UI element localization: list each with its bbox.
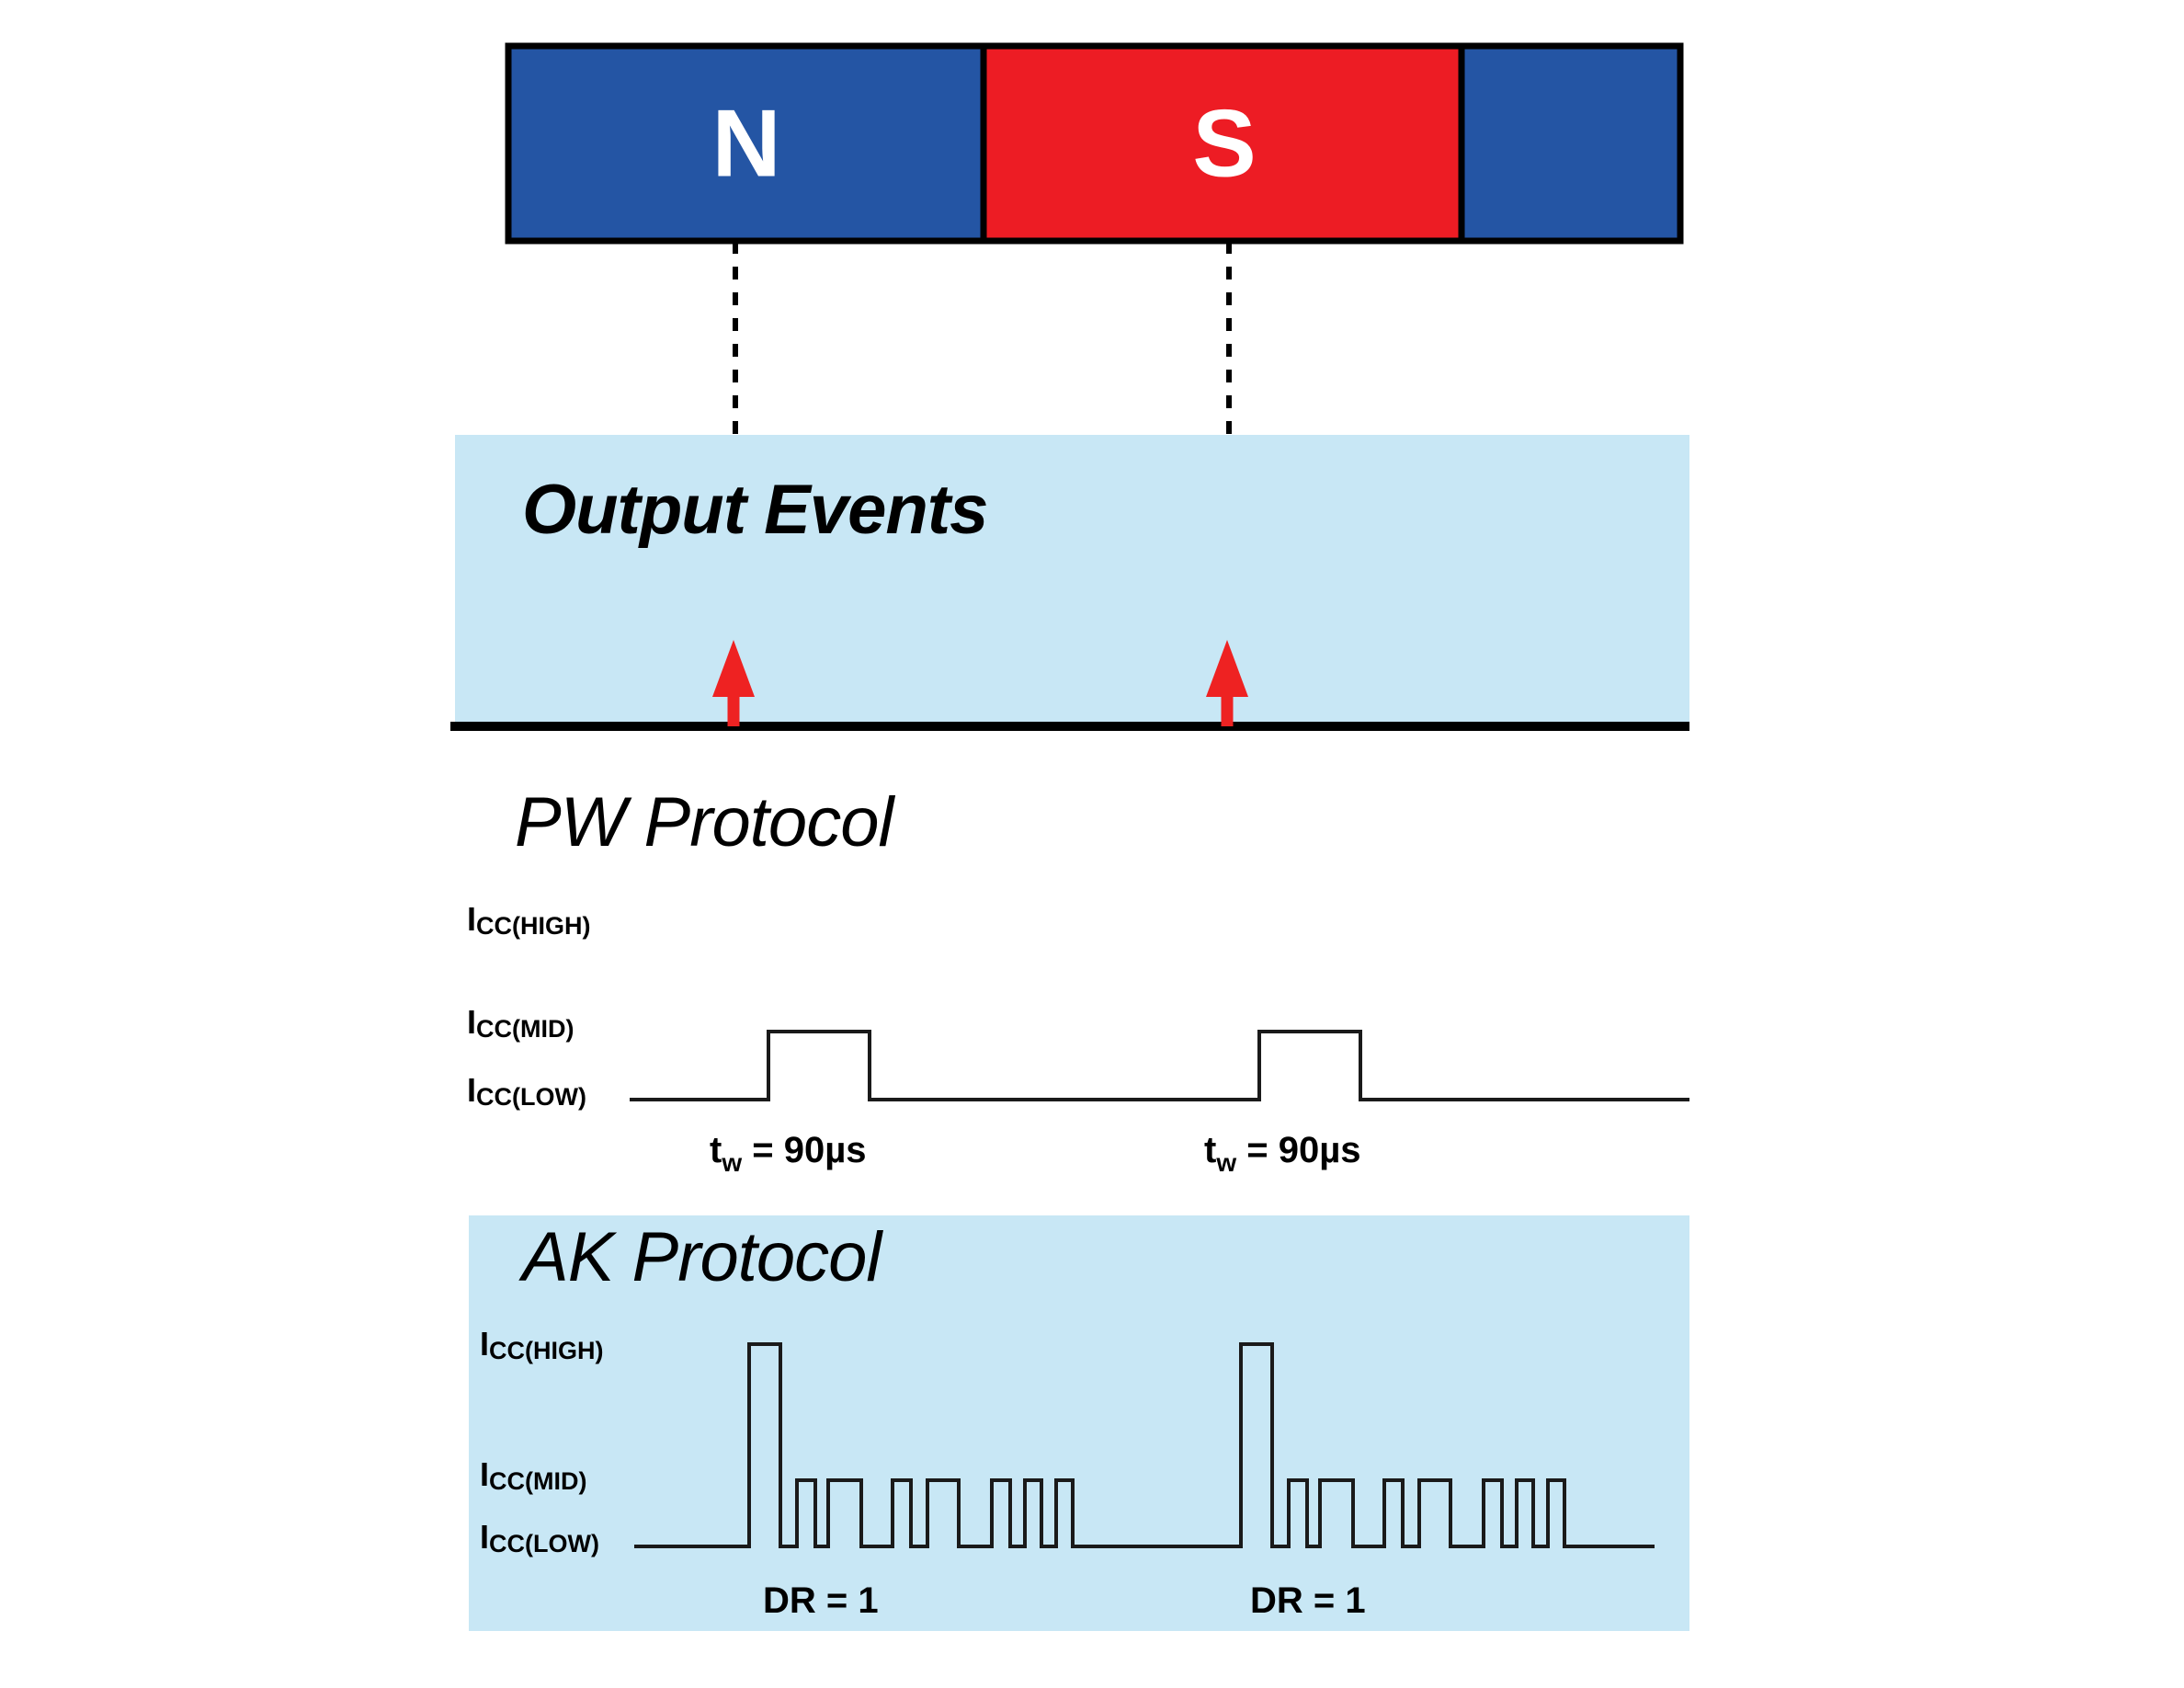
magnet-segment-tail-2 [1462, 46, 1680, 241]
pw-tw-label-2: tw = 90µs [1204, 1130, 1360, 1177]
ak-burst-2-dr-label: DR = 1 [1250, 1580, 1366, 1621]
magnet-pole-label-s: S [1192, 90, 1256, 197]
pw-protocol-section: PW ProtocolICC(HIGH)ICC(MID)ICC(LOW)tw =… [467, 783, 1689, 1177]
diagram-stage: NS Output Events PW ProtocolICC(HIGH)ICC… [0, 0, 2184, 1688]
pw-protocol-title: PW Protocol [515, 783, 895, 861]
output-events-panel: Output Events [450, 435, 1689, 726]
ak-protocol-section: AK ProtocolICC(HIGH)ICC(MID)ICC(LOW)DR =… [469, 1215, 1689, 1631]
pole-marker-lines [735, 241, 1229, 435]
protocol-timing-diagram: NS Output Events PW ProtocolICC(HIGH)ICC… [0, 0, 2184, 1688]
pw-icc-label-mid: ICC(MID) [467, 1003, 574, 1043]
pw-icc-label-high: ICC(HIGH) [467, 900, 591, 940]
output-events-title: Output Events [522, 471, 987, 549]
magnet-pole-label-n: N [711, 90, 780, 197]
ak-burst-1-dr-label: DR = 1 [763, 1580, 879, 1621]
magnet-bar: NS [508, 46, 1680, 241]
ak-protocol-title: AK Protocol [518, 1218, 883, 1296]
pw-waveform [630, 1032, 1689, 1100]
pw-icc-label-low: ICC(LOW) [467, 1071, 586, 1111]
pw-tw-label-1: tw = 90µs [710, 1130, 866, 1177]
